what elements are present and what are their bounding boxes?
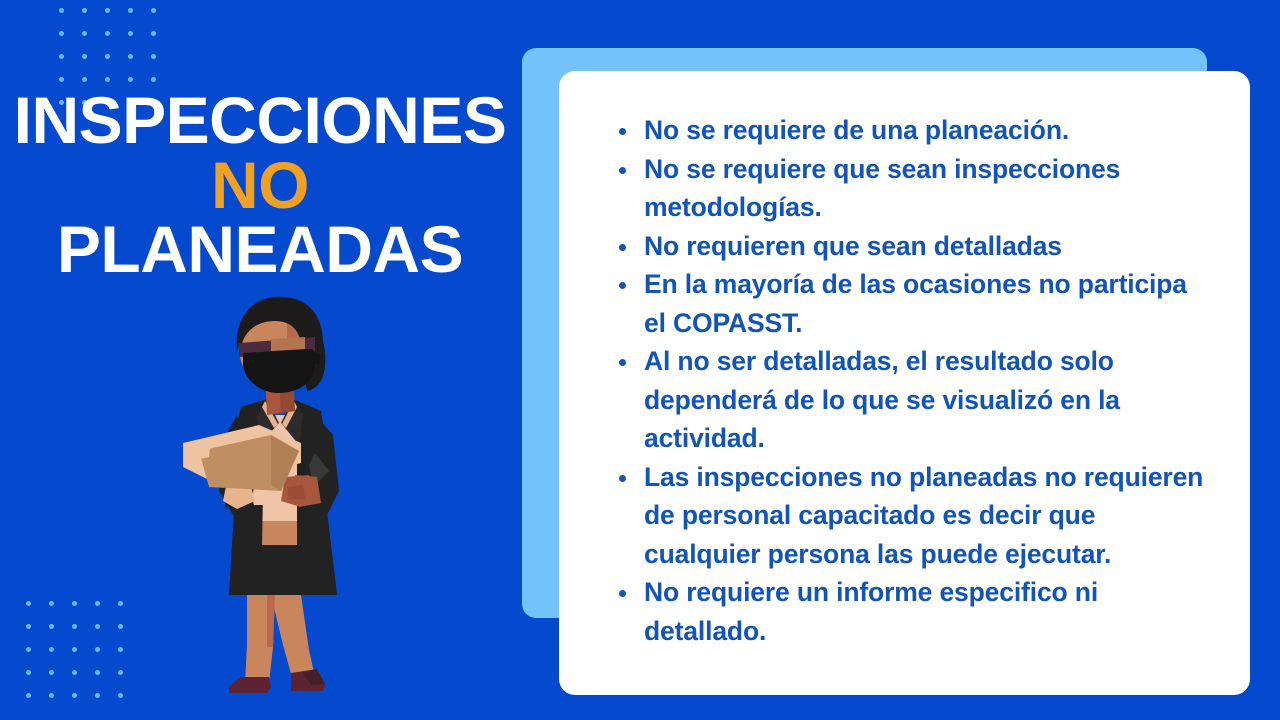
slide-title: INSPECCIONES NO PLANEADAS <box>0 88 520 282</box>
dot <box>59 31 82 54</box>
list-item: Las inspecciones no planeadas no requier… <box>611 458 1211 574</box>
dot <box>128 31 151 54</box>
dot <box>118 693 141 716</box>
dot <box>151 31 174 54</box>
dot <box>105 54 128 77</box>
dot <box>26 601 49 624</box>
dot <box>151 54 174 77</box>
list-item: No se requiere de una planeación. <box>611 111 1211 150</box>
dot <box>128 8 151 31</box>
dot <box>95 693 118 716</box>
dot <box>82 8 105 31</box>
dot <box>95 670 118 693</box>
dot <box>128 54 151 77</box>
bullet-list: No se requiere de una planeación. No se … <box>611 111 1211 650</box>
dot <box>118 647 141 670</box>
dot <box>49 624 72 647</box>
dot <box>82 54 105 77</box>
dot <box>26 670 49 693</box>
dot <box>105 8 128 31</box>
presentation-slide: INSPECCIONES NO PLANEADAS <box>0 0 1280 720</box>
dot <box>49 693 72 716</box>
dot-grid-bottom-left-decoration <box>26 601 141 716</box>
title-line-2-accent: NO <box>0 153 520 218</box>
dot <box>72 601 95 624</box>
list-item: No requiere un informe especifico ni det… <box>611 573 1211 650</box>
dot <box>72 624 95 647</box>
person-with-mask-illustration <box>175 295 375 715</box>
list-item: No requieren que sean detalladas <box>611 227 1211 266</box>
dot <box>59 54 82 77</box>
dot <box>26 624 49 647</box>
dot <box>105 31 128 54</box>
dot <box>72 670 95 693</box>
dot <box>95 624 118 647</box>
dot <box>26 647 49 670</box>
list-item: No se requiere que sean inspecciones met… <box>611 150 1211 227</box>
dot <box>82 31 105 54</box>
dot <box>49 601 72 624</box>
title-line-3: PLANEADAS <box>0 217 520 282</box>
dot <box>72 647 95 670</box>
title-line-1: INSPECCIONES <box>0 88 520 153</box>
dot <box>72 693 95 716</box>
dot <box>49 670 72 693</box>
list-item: Al no ser detalladas, el resultado solo … <box>611 342 1211 458</box>
dot <box>95 647 118 670</box>
dot <box>118 601 141 624</box>
dot <box>118 670 141 693</box>
dot <box>95 601 118 624</box>
dot <box>49 647 72 670</box>
dot <box>26 693 49 716</box>
dot <box>59 8 82 31</box>
dot <box>151 8 174 31</box>
content-card: No se requiere de una planeación. No se … <box>559 71 1250 695</box>
dot <box>118 624 141 647</box>
list-item: En la mayoría de las ocasiones no partic… <box>611 265 1211 342</box>
